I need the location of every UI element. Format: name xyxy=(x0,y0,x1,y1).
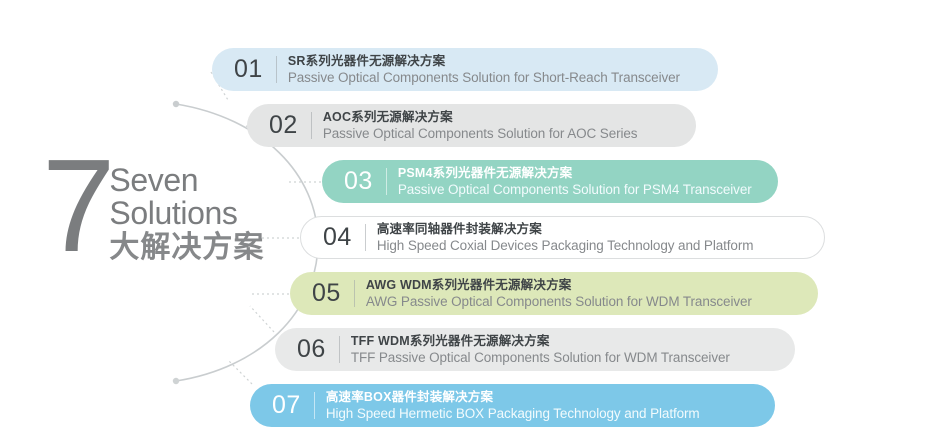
row-divider xyxy=(386,168,387,195)
solution-row-texts: AOC系列无源解决方案Passive Optical Components So… xyxy=(323,109,696,143)
solution-title-en: AWG Passive Optical Components Solution … xyxy=(366,293,804,311)
arc-top-dot xyxy=(173,101,179,107)
solution-row-texts: 高速率同轴器件封装解决方案High Speed Coxial Devices P… xyxy=(377,221,824,255)
solution-row-number: 03 xyxy=(322,169,373,194)
arc-bottom-dot xyxy=(173,378,179,384)
headline-line-solutions: Solutions xyxy=(109,197,264,230)
solution-title-en: Passive Optical Components Solution for … xyxy=(288,69,704,87)
headline-text: Seven Solutions 大解决方案 xyxy=(109,164,264,266)
solution-row-01[interactable]: 01SR系列光器件无源解决方案Passive Optical Component… xyxy=(212,48,718,91)
solution-title-en: TFF Passive Optical Components Solution … xyxy=(351,349,781,367)
solution-row-04[interactable]: 04高速率同轴器件封装解决方案High Speed Coxial Devices… xyxy=(300,216,825,259)
headline-line-chinese: 大解决方案 xyxy=(109,230,264,266)
solution-title-en: High Speed Hermetic BOX Packaging Techno… xyxy=(326,405,761,423)
solution-row-number: 07 xyxy=(250,393,301,418)
solution-row-05[interactable]: 05AWG WDM系列光器件无源解决方案AWG Passive Optical … xyxy=(290,272,818,315)
solution-title-en: Passive Optical Components Solution for … xyxy=(323,125,682,143)
infographic-canvas: 7 Seven Solutions 大解决方案 01SR系列光器件无源解决方案P… xyxy=(0,0,933,445)
solution-title-cn: PSM4系列光器件无源解决方案 xyxy=(398,165,764,181)
solution-row-03[interactable]: 03PSM4系列光器件无源解决方案Passive Optical Compone… xyxy=(322,160,778,203)
row-divider xyxy=(339,336,340,363)
solution-row-texts: PSM4系列光器件无源解决方案Passive Optical Component… xyxy=(398,165,778,199)
solution-title-cn: AWG WDM系列光器件无源解决方案 xyxy=(366,277,804,293)
solution-title-cn: SR系列光器件无源解决方案 xyxy=(288,53,704,69)
solution-title-cn: 高速率同轴器件封装解决方案 xyxy=(377,221,810,237)
big-numeral-seven: 7 xyxy=(42,154,111,258)
solution-title-cn: 高速率BOX器件封装解决方案 xyxy=(326,389,761,405)
solution-row-texts: AWG WDM系列光器件无源解决方案AWG Passive Optical Co… xyxy=(366,277,818,311)
row-divider xyxy=(365,224,366,251)
solution-row-texts: TFF WDM系列光器件无源解决方案TFF Passive Optical Co… xyxy=(351,333,795,367)
solution-row-06[interactable]: 06TFF WDM系列光器件无源解决方案TFF Passive Optical … xyxy=(275,328,795,371)
solution-title-en: Passive Optical Components Solution for … xyxy=(398,181,764,199)
row-divider xyxy=(314,392,315,419)
solution-row-02[interactable]: 02AOC系列无源解决方案Passive Optical Components … xyxy=(247,104,696,147)
connector-06 xyxy=(250,306,274,332)
solution-row-texts: 高速率BOX器件封装解决方案High Speed Hermetic BOX Pa… xyxy=(326,389,775,423)
solution-row-texts: SR系列光器件无源解决方案Passive Optical Components … xyxy=(288,53,718,87)
solution-row-number: 01 xyxy=(212,57,263,82)
solution-row-number: 02 xyxy=(247,113,298,138)
headline-line-seven: Seven xyxy=(109,164,264,197)
headline-block: 7 Seven Solutions 大解决方案 xyxy=(42,160,312,290)
solution-title-cn: AOC系列无源解决方案 xyxy=(323,109,682,125)
connector-07 xyxy=(228,360,252,384)
row-divider xyxy=(311,112,312,139)
row-divider xyxy=(276,56,277,83)
row-divider xyxy=(354,280,355,307)
solution-title-en: High Speed Coxial Devices Packaging Tech… xyxy=(377,237,810,255)
solution-row-07[interactable]: 07高速率BOX器件封装解决方案High Speed Hermetic BOX … xyxy=(250,384,775,427)
solution-title-cn: TFF WDM系列光器件无源解决方案 xyxy=(351,333,781,349)
solution-row-number: 06 xyxy=(275,337,326,362)
